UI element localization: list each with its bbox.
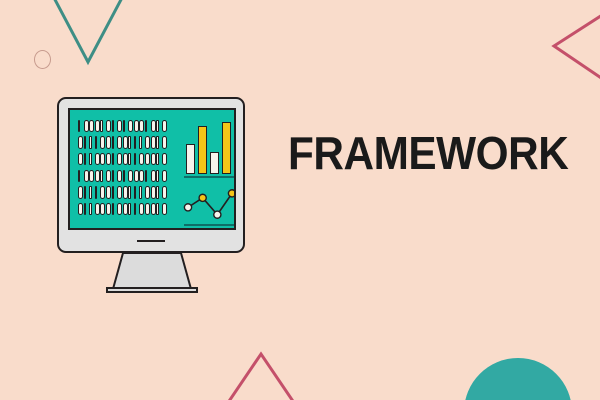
binary-row <box>78 185 180 199</box>
monitor-screen <box>68 108 236 230</box>
binary-bit-zero <box>89 170 94 183</box>
binary-bit-zero <box>117 203 122 216</box>
binary-bit-one <box>145 170 147 183</box>
bar-chart-bar <box>210 152 219 174</box>
binary-bit-one <box>112 120 114 133</box>
binary-bit-one <box>112 203 114 216</box>
binary-bit-zero <box>95 203 100 216</box>
binary-bit-zero <box>106 203 111 216</box>
binary-bit-zero <box>134 170 139 183</box>
binary-bit-zero <box>134 120 139 133</box>
binary-row <box>78 119 180 133</box>
line-chart-marker <box>228 190 235 197</box>
binary-bit-one <box>89 136 91 149</box>
binary-bit-zero <box>123 136 128 149</box>
binary-bit-one <box>139 136 141 149</box>
binary-bit-one <box>89 153 91 166</box>
binary-bit-one <box>123 120 125 133</box>
binary-bit-zero <box>151 120 156 133</box>
binary-bit-zero <box>128 120 133 133</box>
binary-bit-zero <box>151 203 156 216</box>
line-chart <box>182 184 236 224</box>
line-chart-marker <box>184 204 191 211</box>
binary-row <box>78 152 180 166</box>
binary-bit-one <box>145 120 147 133</box>
binary-bit-one <box>84 136 86 149</box>
monitor-notch <box>137 240 165 242</box>
binary-bit-one <box>95 186 97 199</box>
binary-bit-one <box>84 186 86 199</box>
line-chart-marker <box>214 211 221 218</box>
binary-bit-zero <box>123 186 128 199</box>
binary-bit-zero <box>100 186 105 199</box>
binary-bit-one <box>89 203 91 216</box>
binary-bit-one <box>128 153 130 166</box>
binary-bit-one <box>128 203 130 216</box>
binary-bit-one <box>84 203 86 216</box>
binary-code-block <box>78 119 180 216</box>
binary-bit-zero <box>151 170 156 183</box>
binary-bit-one <box>84 153 86 166</box>
binary-bit-one <box>128 186 130 199</box>
binary-bit-zero <box>139 120 144 133</box>
chevron-left-icon <box>540 0 600 128</box>
binary-bit-zero <box>95 153 100 166</box>
binary-bit-one <box>100 170 102 183</box>
binary-bit-zero <box>151 153 156 166</box>
binary-bit-one <box>112 186 114 199</box>
binary-bit-zero <box>151 186 156 199</box>
binary-bit-one <box>123 170 125 183</box>
binary-row <box>78 202 180 216</box>
bar-chart-bar <box>222 122 231 174</box>
binary-bit-zero <box>145 153 150 166</box>
poster-canvas: FRAMEWORK <box>0 0 600 400</box>
binary-bit-zero <box>117 136 122 149</box>
binary-bit-one <box>156 136 158 149</box>
binary-bit-one <box>112 153 114 166</box>
binary-bit-zero <box>100 203 105 216</box>
binary-bit-one <box>112 170 114 183</box>
binary-bit-zero <box>84 170 89 183</box>
bar-chart-bar <box>186 144 195 174</box>
line-chart-marker <box>199 194 206 201</box>
binary-bit-zero <box>117 153 122 166</box>
chevron-up-icon <box>196 338 326 400</box>
binary-bit-one <box>156 186 158 199</box>
binary-bit-zero <box>162 203 167 216</box>
binary-bit-zero <box>84 120 89 133</box>
binary-bit-zero <box>145 136 150 149</box>
binary-bit-one <box>128 136 130 149</box>
binary-bit-zero <box>162 186 167 199</box>
binary-bit-one <box>156 153 158 166</box>
binary-bit-one <box>134 153 136 166</box>
line-chart-axis <box>184 224 236 226</box>
binary-bit-zero <box>106 153 111 166</box>
binary-bit-zero <box>117 120 122 133</box>
binary-bit-one <box>100 120 102 133</box>
binary-bit-zero <box>78 186 83 199</box>
binary-bit-zero <box>117 170 122 183</box>
binary-bit-zero <box>106 120 111 133</box>
binary-bit-zero <box>95 120 100 133</box>
binary-bit-zero <box>106 136 111 149</box>
binary-bit-zero <box>145 186 150 199</box>
bar-chart-axis <box>184 176 236 178</box>
monitor-illustration <box>57 97 245 253</box>
binary-bit-zero <box>139 153 144 166</box>
binary-bit-zero <box>128 170 133 183</box>
binary-bit-one <box>134 186 136 199</box>
binary-bit-zero <box>123 203 128 216</box>
binary-bit-zero <box>162 153 167 166</box>
bar-chart-bar <box>198 126 207 174</box>
monitor-body <box>57 97 245 253</box>
binary-bit-zero <box>106 186 111 199</box>
binary-bit-zero <box>145 203 150 216</box>
binary-bit-one <box>78 120 80 133</box>
binary-bit-one <box>78 170 80 183</box>
circle-outline-icon <box>34 50 51 69</box>
binary-bit-zero <box>139 170 144 183</box>
binary-bit-one <box>95 136 97 149</box>
binary-row <box>78 169 180 183</box>
binary-bit-zero <box>100 136 105 149</box>
binary-bit-zero <box>123 153 128 166</box>
bar-chart <box>186 122 234 174</box>
binary-bit-zero <box>95 170 100 183</box>
binary-bit-one <box>134 203 136 216</box>
binary-bit-one <box>139 186 141 199</box>
binary-bit-one <box>134 136 136 149</box>
binary-bit-one <box>89 186 91 199</box>
binary-bit-zero <box>151 136 156 149</box>
binary-bit-zero <box>100 153 105 166</box>
line-chart-path <box>188 193 232 214</box>
binary-bit-zero <box>117 186 122 199</box>
binary-bit-one <box>112 136 114 149</box>
binary-bit-one <box>156 120 158 133</box>
binary-bit-zero <box>89 120 94 133</box>
monitor-stand <box>99 251 205 297</box>
binary-bit-zero <box>139 203 144 216</box>
binary-bit-zero <box>162 136 167 149</box>
binary-bit-zero <box>162 170 167 183</box>
binary-row <box>78 136 180 150</box>
page-title: FRAMEWORK <box>288 127 568 179</box>
binary-bit-one <box>156 203 158 216</box>
circle-filled-shape <box>464 358 572 400</box>
binary-bit-zero <box>78 203 83 216</box>
binary-bit-zero <box>78 136 83 149</box>
binary-bit-one <box>156 170 158 183</box>
binary-bit-zero <box>162 120 167 133</box>
binary-bit-zero <box>78 153 83 166</box>
binary-bit-zero <box>106 170 111 183</box>
